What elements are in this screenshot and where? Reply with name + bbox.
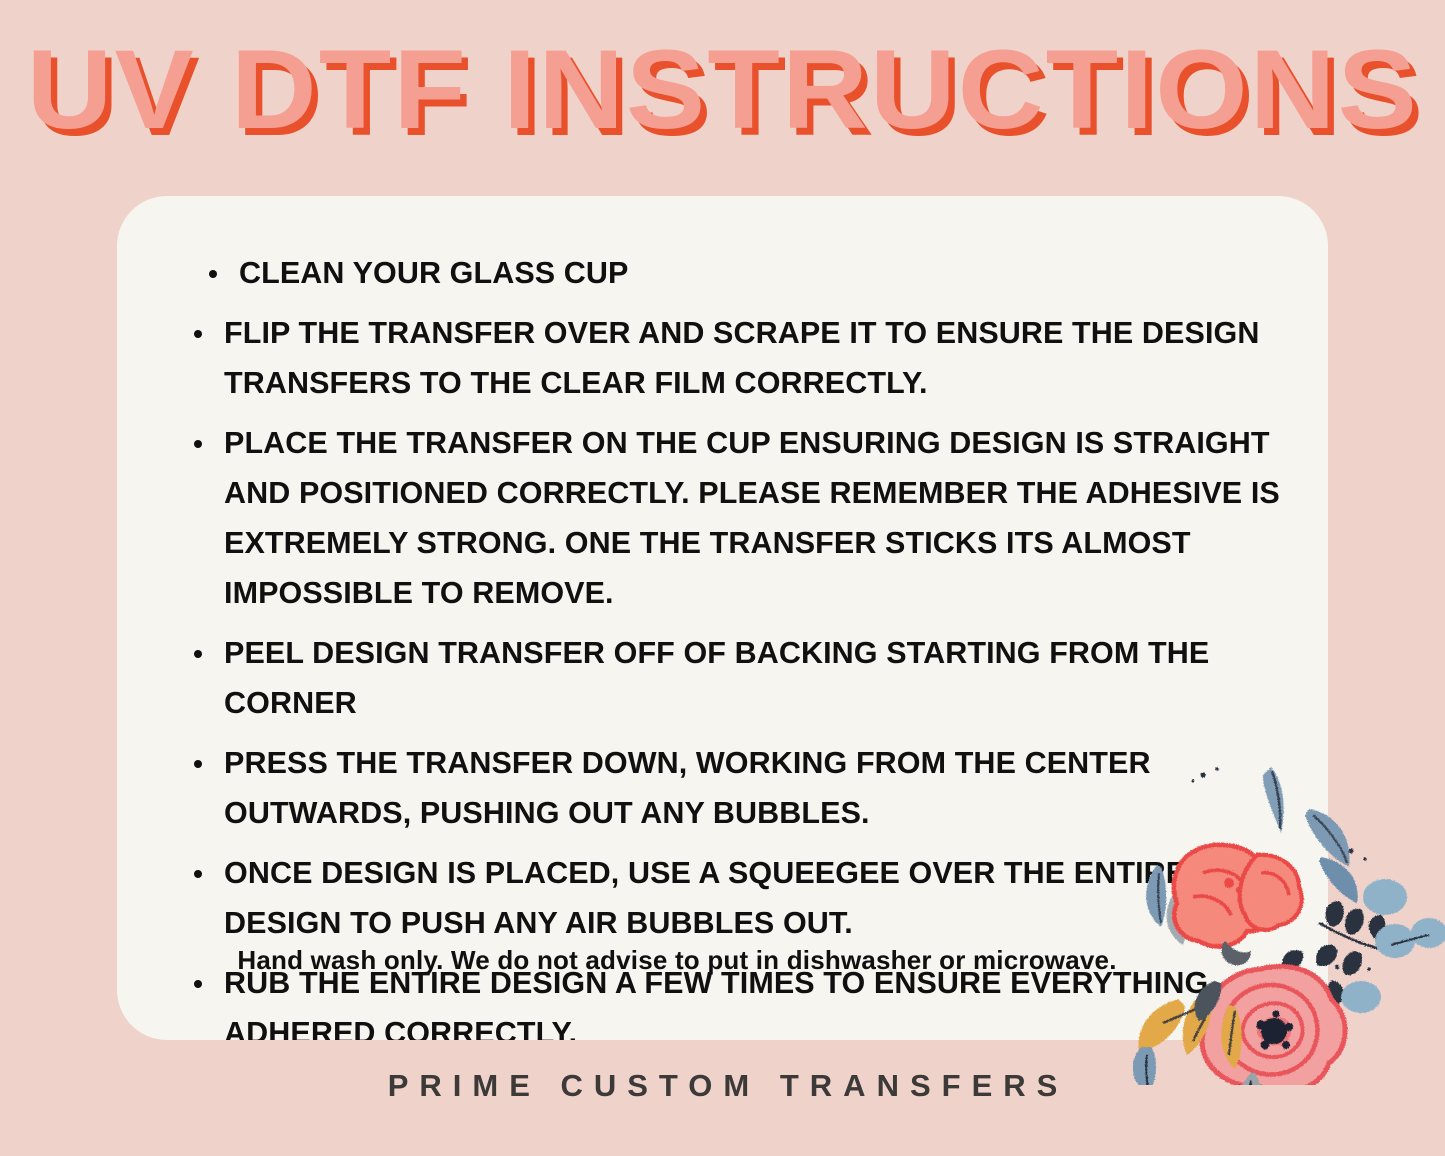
instructions-card: CLEAN YOUR GLASS CUP FLIP THE TRANSFER O… — [117, 196, 1328, 1040]
care-note: Hand wash only. We do not advise to put … — [117, 944, 1237, 976]
list-item: PLACE THE TRANSFER ON THE CUP ENSURING D… — [177, 418, 1282, 618]
list-item: CLEAN YOUR GLASS CUP — [177, 248, 1282, 298]
list-item: PRESS THE TRANSFER DOWN, WORKING FROM TH… — [177, 738, 1282, 838]
list-item: FLIP THE TRANSFER OVER AND SCRAPE IT TO … — [177, 308, 1282, 408]
title-front-layer: UV DTF INSTRUCTIONS — [26, 27, 1418, 152]
list-item: PEEL DESIGN TRANSFER OFF OF BACKING STAR… — [177, 628, 1282, 728]
title-text-stack: UV DTF INSTRUCTIONS UV DTF INSTRUCTIONS — [26, 34, 1418, 146]
page-title: UV DTF INSTRUCTIONS UV DTF INSTRUCTIONS — [0, 34, 1445, 164]
instructions-list: CLEAN YOUR GLASS CUP FLIP THE TRANSFER O… — [177, 248, 1282, 1040]
brand-footer: PRIME CUSTOM TRANSFERS — [0, 1068, 1445, 1104]
list-item: ONCE DESIGN IS PLACED, USE A SQUEEGEE OV… — [177, 848, 1282, 948]
